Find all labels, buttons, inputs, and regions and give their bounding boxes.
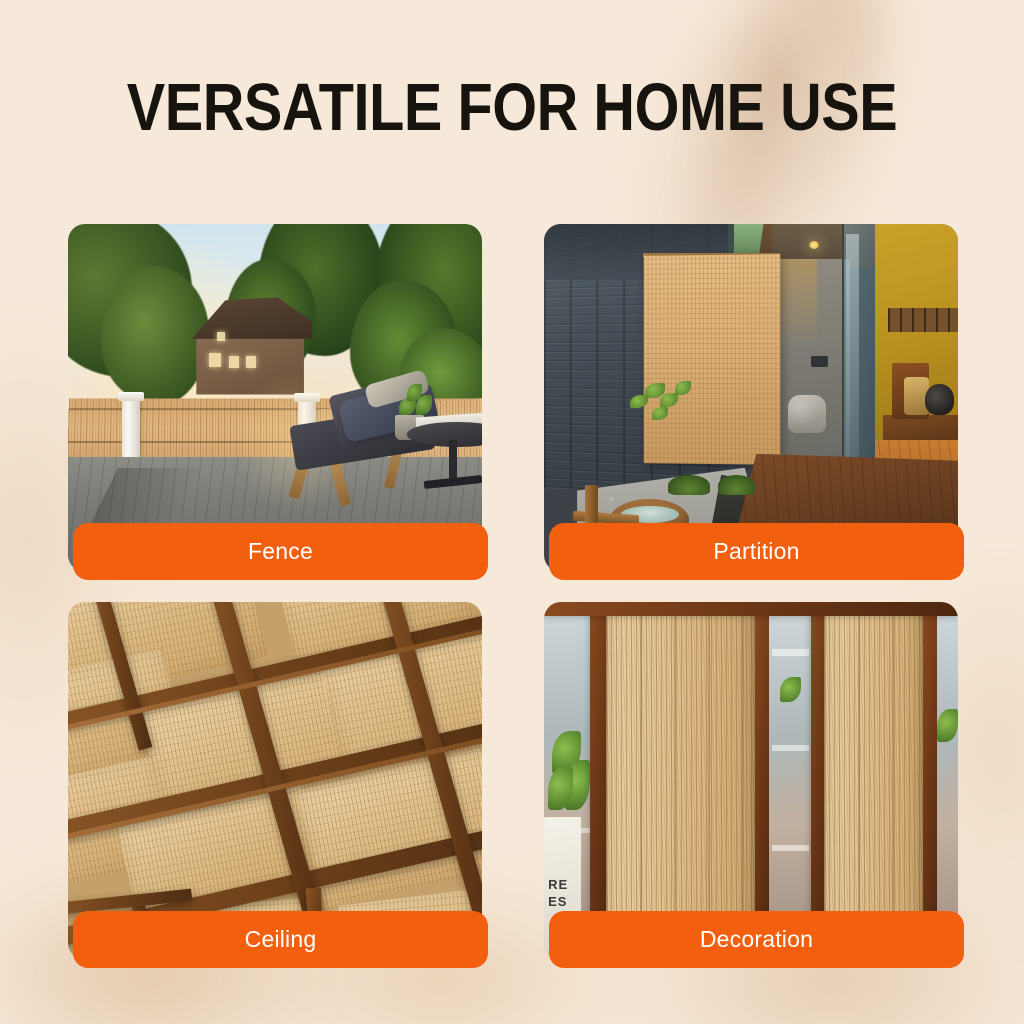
display-shelf	[888, 308, 958, 332]
marketing-banner: VERSATILE FOR HOME USE	[0, 0, 1024, 1024]
balcony-view-right	[937, 602, 958, 960]
partition-photo	[544, 224, 958, 572]
stone-basin	[788, 395, 825, 433]
reed-blind-panel	[824, 602, 923, 924]
label-text-fence: Fence	[248, 538, 313, 565]
wall-light-wash	[776, 259, 817, 349]
label-bar-partition[interactable]: Partition	[549, 523, 964, 580]
use-case-card-partition[interactable]: Partition	[544, 224, 958, 572]
use-case-card-fence[interactable]: Fence	[68, 224, 482, 572]
ceiling-photo	[68, 602, 482, 960]
glass-reflection	[846, 234, 858, 485]
wood-frame	[755, 602, 769, 960]
tree	[101, 266, 209, 405]
use-case-grid: Fence	[68, 224, 958, 960]
side-table-stem	[449, 440, 457, 482]
page-title: VERSATILE FOR HOME USE	[72, 74, 953, 141]
maple-branch	[627, 377, 710, 440]
label-bar-ceiling[interactable]: Ceiling	[73, 911, 488, 968]
label-bar-fence[interactable]: Fence	[73, 523, 488, 580]
iron-kettle	[925, 384, 954, 415]
reed-blind-panel	[606, 602, 755, 960]
use-case-card-ceiling[interactable]: Ceiling	[68, 602, 482, 960]
label-bar-decoration[interactable]: Decoration	[549, 911, 964, 968]
fence-photo	[68, 224, 482, 572]
use-case-card-decoration[interactable]: REES	[544, 602, 958, 960]
balcony-view-center	[769, 602, 810, 960]
wood-frame	[923, 602, 937, 960]
wall-faucet	[811, 356, 828, 366]
label-text-ceiling: Ceiling	[245, 926, 317, 953]
decoration-photo: REES	[544, 602, 958, 960]
wood-frame	[590, 602, 607, 960]
wood-frame-top	[544, 602, 958, 616]
label-text-decoration: Decoration	[700, 926, 813, 953]
fence-post-cap	[118, 392, 144, 401]
sign-text: REES	[548, 877, 568, 910]
wood-frame	[811, 602, 824, 960]
label-text-partition: Partition	[713, 538, 799, 565]
